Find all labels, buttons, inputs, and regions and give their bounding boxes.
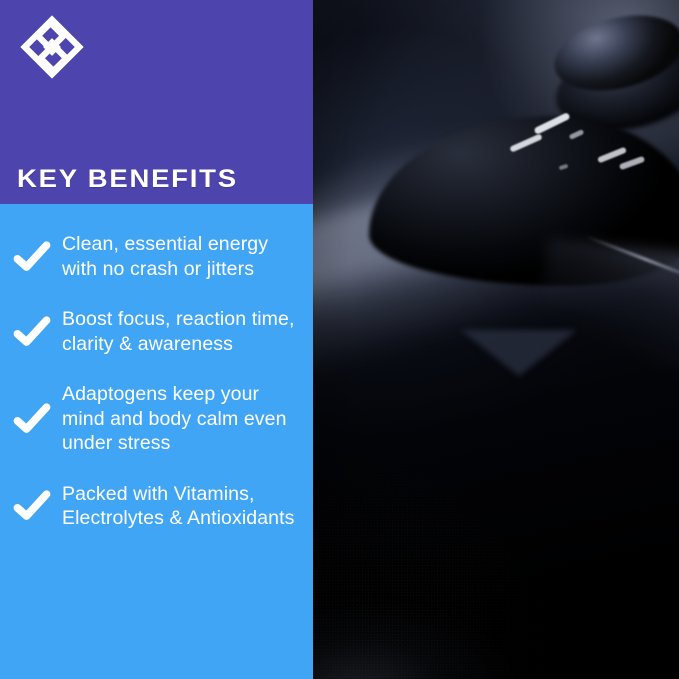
list-item-label: Packed with Vitamins, Electrolytes & Ant… xyxy=(62,482,303,531)
list-item-label: Boost focus, reaction time, clarity & aw… xyxy=(62,307,303,356)
checkmark-icon xyxy=(12,399,52,439)
page-title: KEY BENEFITS xyxy=(17,165,238,193)
controller-photo xyxy=(313,0,679,679)
checkmark-icon xyxy=(12,312,52,352)
checkmark-icon xyxy=(12,237,52,277)
list-item: Adaptogens keep your mind and body calm … xyxy=(12,382,303,456)
list-item: Boost focus, reaction time, clarity & aw… xyxy=(12,307,303,356)
list-item-label: Adaptogens keep your mind and body calm … xyxy=(62,382,303,456)
list-item: Packed with Vitamins, Electrolytes & Ant… xyxy=(12,482,303,531)
key-benefits-infographic: KEY BENEFITS Clean, essential energy wit… xyxy=(0,0,679,679)
nested-diamond-logo-icon xyxy=(17,12,87,82)
checkmark-icon xyxy=(12,486,52,526)
benefits-list: Clean, essential energy with no crash or… xyxy=(0,204,313,679)
brand-panel: KEY BENEFITS xyxy=(0,0,313,204)
photo-vignette xyxy=(313,0,679,679)
list-item: Clean, essential energy with no crash or… xyxy=(12,232,303,281)
list-item-label: Clean, essential energy with no crash or… xyxy=(62,232,303,281)
